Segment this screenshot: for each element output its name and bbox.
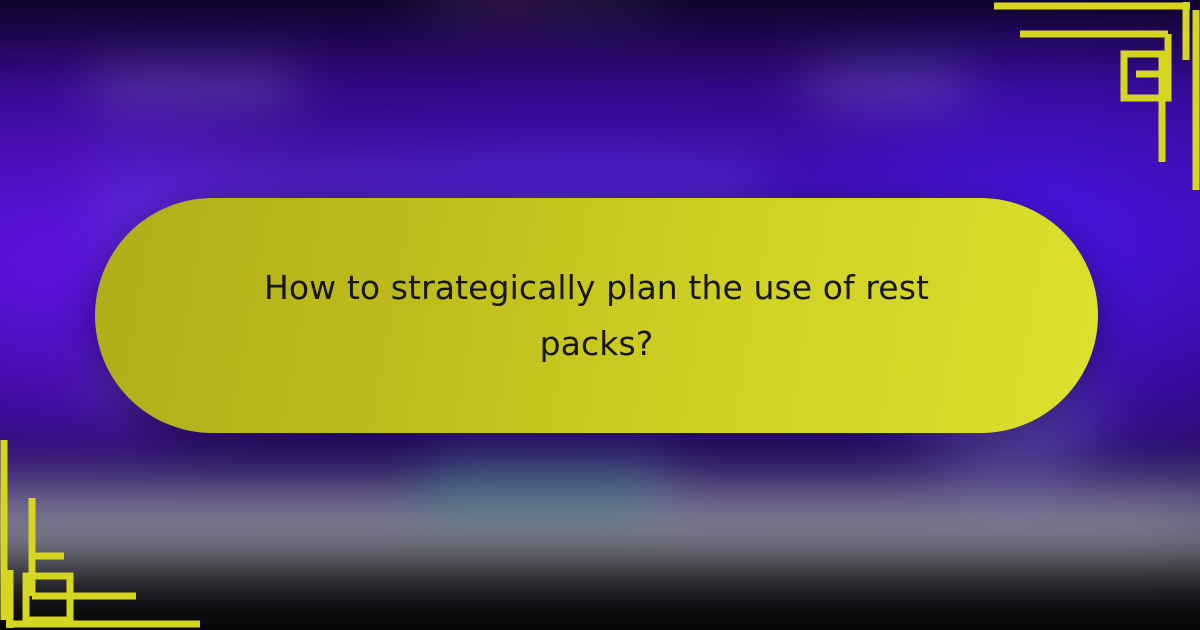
share-card-canvas: How to strategically plan the use of res… — [0, 0, 1200, 630]
question-card[interactable]: How to strategically plan the use of res… — [95, 198, 1098, 433]
question-text: How to strategically plan the use of res… — [237, 260, 957, 371]
